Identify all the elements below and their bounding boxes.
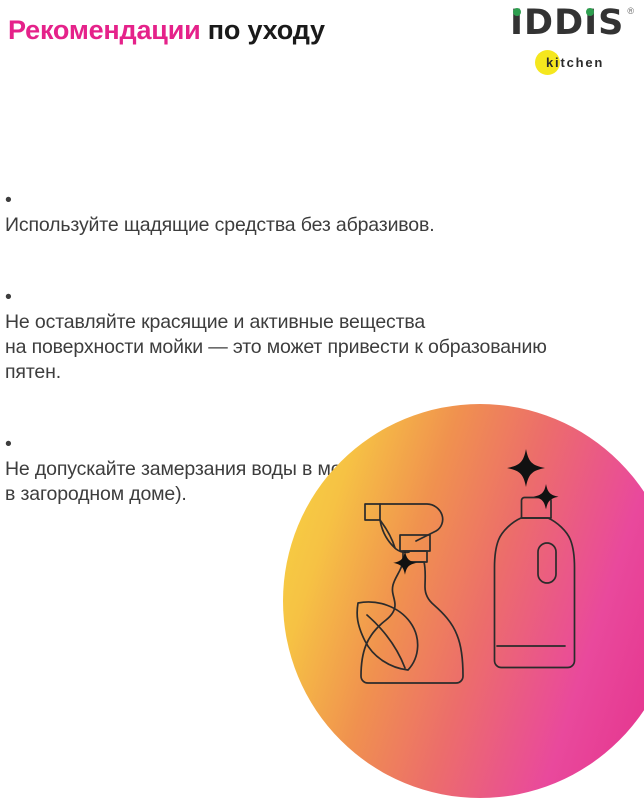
detergent-bottle-icon	[428, 404, 575, 668]
logo-sublabel-group: kitchen	[546, 49, 604, 75]
spray-bottle-icon	[357, 504, 463, 683]
page-title-accent: Рекомендации	[8, 15, 201, 45]
sparkle-small-icon	[393, 551, 417, 575]
page-title: Рекомендации по уходу	[8, 14, 325, 46]
registered-trademark-icon: ®	[627, 7, 634, 16]
sparkle-medium-icon	[534, 484, 559, 509]
list-item: • Не оставляйте красящие и активные веще…	[5, 260, 641, 385]
bullet-icon: •	[5, 189, 12, 211]
page-header: Рекомендации по уходу IDDIS ® kitchen	[0, 0, 644, 100]
list-item-text: Используйте щадящие средства без абразив…	[5, 214, 434, 236]
list-item: • Используйте щадящие средства без абраз…	[5, 163, 641, 238]
cleaning-products-lineart	[283, 404, 644, 798]
bullet-icon: •	[5, 286, 12, 308]
logo-dot-icon-left	[513, 8, 521, 16]
cleaning-products-illustration	[283, 404, 644, 798]
page-title-plain: по уходу	[201, 15, 325, 45]
sparkle-icons	[393, 449, 558, 575]
logo-sublabel-text: kitchen	[546, 56, 604, 69]
sparkle-large-icon	[507, 449, 545, 487]
logo-wordmark: IDDIS	[510, 6, 624, 41]
logo-dot-icon-right	[586, 8, 594, 16]
bullet-icon: •	[5, 433, 12, 455]
brand-logo: IDDIS ® kitchen	[510, 6, 634, 82]
list-item-text: Не оставляйте красящие и активные вещест…	[5, 311, 547, 383]
